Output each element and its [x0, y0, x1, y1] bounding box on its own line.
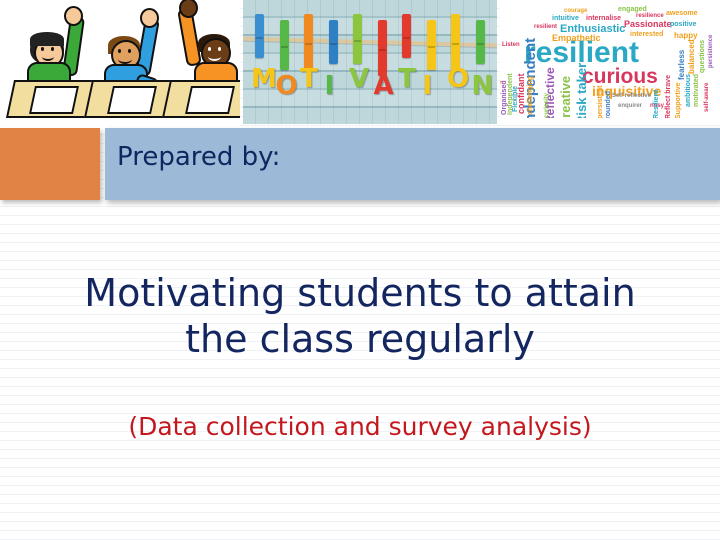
- word-cloud-term: positive: [670, 21, 696, 28]
- word-cloud-term: balanced: [688, 39, 696, 74]
- clothespin: [353, 14, 362, 64]
- word-cloud-term: challenging: [527, 76, 534, 115]
- clothespin: [476, 20, 485, 64]
- motivation-letter: T: [398, 66, 416, 92]
- motivation-letter: O: [276, 73, 298, 99]
- clothespin: [427, 20, 436, 70]
- word-cloud-term: rounded: [605, 91, 612, 118]
- word-cloud-term: Empathetic: [552, 34, 601, 43]
- clothespin: [451, 14, 460, 70]
- word-cloud-term: Organised: [501, 80, 508, 115]
- orange-accent-block: [0, 128, 100, 200]
- word-cloud-term: creative: [559, 76, 572, 118]
- title-line-1: Motivating students to attain: [84, 271, 635, 315]
- motivation-letter: M: [251, 66, 277, 92]
- word-cloud-term: fearless: [678, 50, 686, 80]
- word-cloud-term: interested: [630, 31, 663, 38]
- word-cloud-term: motivated: [693, 74, 700, 107]
- word-cloud-term: Supportive: [675, 82, 682, 118]
- prepared-by-banner: Prepared by:: [105, 128, 720, 200]
- word-cloud-term: courage: [564, 8, 587, 14]
- clothespin: [255, 14, 264, 58]
- word-cloud-term: enquirer: [618, 103, 642, 109]
- word-cloud-term: Resilient: [653, 90, 660, 118]
- word-cloud-term: persistent: [597, 86, 604, 118]
- clothespin: [280, 20, 289, 70]
- motivation-letter: T: [300, 66, 318, 92]
- motivation-letter: O: [447, 66, 469, 92]
- word-cloud-term: ambitious: [685, 74, 692, 107]
- word-cloud-term: Listen: [502, 42, 520, 48]
- motivation-letter: A: [374, 73, 394, 99]
- word-cloud-term: Self reflective: [612, 93, 651, 99]
- word-cloud-term: risk taking: [500, 81, 502, 111]
- word-cloud-term: intuitive: [552, 15, 579, 22]
- word-cloud-term: questions: [699, 40, 706, 73]
- presentation-slide: MOTIVATION resilientcuriousinquisitiveEn…: [0, 0, 720, 540]
- word-cloud-term: curiosity: [544, 93, 550, 118]
- title-line-2: the class regularly: [185, 317, 535, 361]
- word-cloud-term: engaged: [618, 6, 647, 13]
- prepared-by-label: Prepared by:: [117, 142, 280, 172]
- word-cloud-term: Risk taker: [575, 63, 588, 118]
- word-cloud-term: resilience: [636, 13, 664, 19]
- motivation-letter: I: [423, 73, 433, 99]
- page-subtitle: (Data collection and survey analysis): [40, 412, 680, 441]
- clothespin: [304, 14, 313, 70]
- word-cloud-term: self-aware: [704, 83, 710, 112]
- motivation-letter: I: [325, 73, 335, 99]
- word-cloud-term: Independent: [507, 73, 514, 115]
- word-cloud-term: persistence: [708, 35, 714, 68]
- clothespin: [378, 20, 387, 76]
- word-cloud-term: resilient: [534, 24, 557, 30]
- clothespin: [402, 14, 411, 58]
- learner-attributes-word-cloud: resilientcuriousinquisitiveEnthusiasticE…: [500, 0, 720, 118]
- word-cloud-term: Passionate: [624, 20, 672, 29]
- students-raising-hands-clipart: [0, 0, 240, 128]
- motivation-letter: N: [472, 73, 494, 99]
- word-cloud-term: Reflect brave: [665, 75, 672, 118]
- clothespin: [329, 20, 338, 64]
- word-cloud-term: awesome: [666, 10, 698, 17]
- motivation-letter: V: [349, 66, 369, 92]
- word-cloud-term: internalise: [586, 15, 621, 22]
- page-title: Motivating students to attain the class …: [40, 270, 680, 363]
- motivation-clothespins-photo: MOTIVATION: [243, 0, 497, 124]
